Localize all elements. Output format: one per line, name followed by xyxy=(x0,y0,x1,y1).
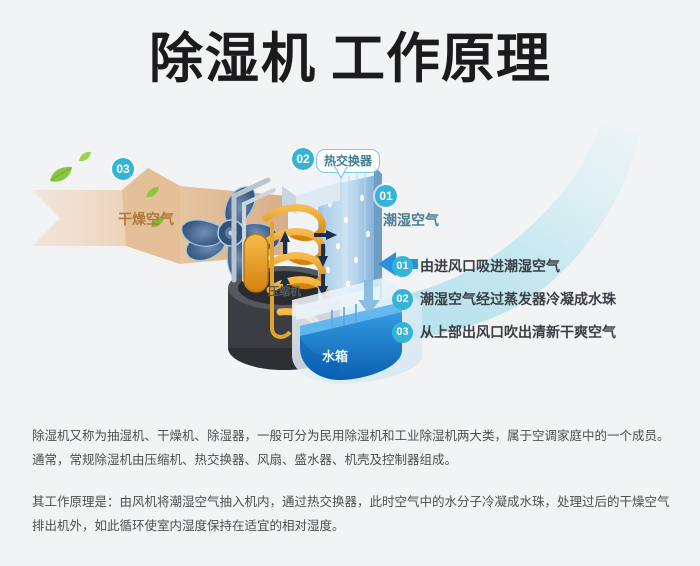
legend-text-01: 由进风口吸进潮湿空气 xyxy=(420,256,560,277)
legend-item-01: 01 由进风口吸进潮湿空气 xyxy=(392,255,692,288)
leaf-icon xyxy=(145,186,160,199)
paragraph-2-line-1: 其工作原理是：由风机将潮湿空气抽入机内，通过热交换器，此时空气中的水分子冷凝成水… xyxy=(32,490,672,514)
leaf-icon xyxy=(48,165,74,185)
paragraph-1-line-2: 通常，常规除湿机由压缩机、热交换器、风扇、盛水器、机壳及控制器组成。 xyxy=(32,448,672,472)
legend-item-02: 02 潮湿空气经过蒸发器冷凝成水珠 xyxy=(392,288,692,321)
page-title-primary: 除湿机 xyxy=(149,29,317,89)
leaf-icon xyxy=(78,151,92,163)
caption-compressor: 压缩机 xyxy=(268,283,301,299)
diagram-badge-02: 02 xyxy=(292,148,314,170)
legend-badge-03: 03 xyxy=(392,322,413,343)
legend-badge-02: 02 xyxy=(392,289,413,310)
diagram-badge-01: 01 xyxy=(375,185,397,207)
infographic-canvas: 除湿机工作原理 xyxy=(0,0,700,566)
legend-text-02: 潮湿空气经过蒸发器冷凝成水珠 xyxy=(420,289,616,310)
callout-pointer-icon xyxy=(334,167,348,179)
legend-badge-01: 01 xyxy=(392,256,413,277)
paragraph-1-line-1: 除湿机又称为抽湿机、干燥机、除湿器，一般可分为民用除湿机和工业除湿机两大类，属于… xyxy=(32,424,672,448)
callout-heat-exchanger: 热交换器 xyxy=(316,149,380,173)
legend-text-03: 从上部出风口吹出清新干爽空气 xyxy=(420,322,616,343)
legend-list: 01 由进风口吸进潮湿空气 02 潮湿空气经过蒸发器冷凝成水珠 03 从上部出风… xyxy=(392,255,692,354)
caption-dry-air: 干燥空气 xyxy=(118,209,174,229)
page-title-secondary: 工作原理 xyxy=(331,29,551,89)
paragraph-2-line-2: 排出机外，如此循环使室内湿度保持在适宜的相对湿度。 xyxy=(32,514,672,538)
caption-water-tank: 水箱 xyxy=(322,346,348,365)
body-copy: 除湿机又称为抽湿机、干燥机、除湿器，一般可分为民用除湿机和工业除湿机两大类，属于… xyxy=(32,424,672,538)
diagram-badge-03: 03 xyxy=(112,158,134,180)
caption-humid-air: 潮湿空气 xyxy=(383,210,439,230)
legend-item-03: 03 从上部出风口吹出清新干爽空气 xyxy=(392,321,692,354)
page-title: 除湿机工作原理 xyxy=(0,28,700,90)
